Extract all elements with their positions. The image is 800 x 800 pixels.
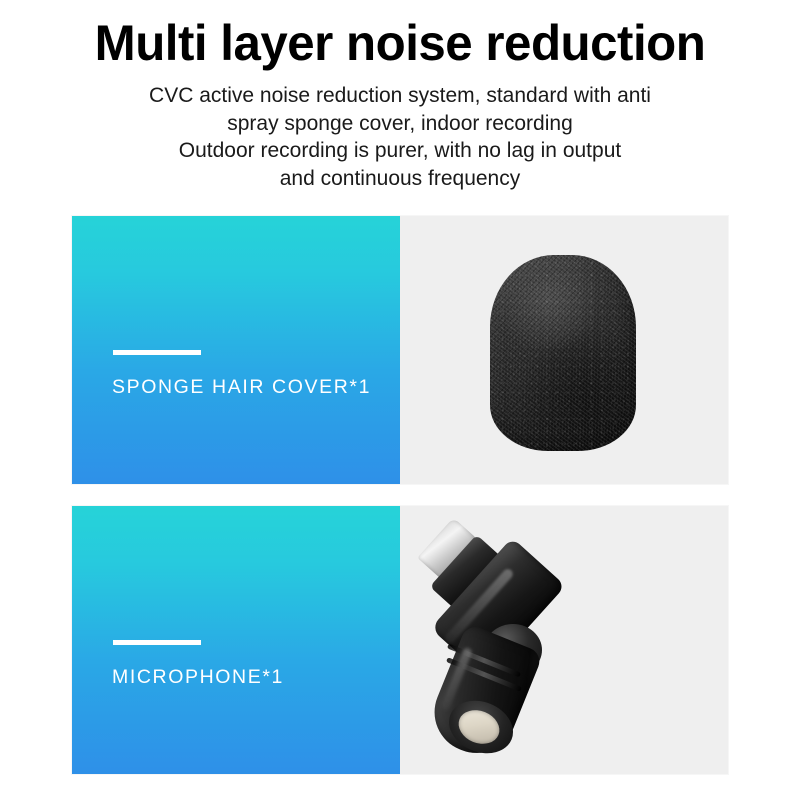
subtitle-line-4: and continuous frequency <box>0 165 800 193</box>
label-rule-divider <box>113 640 201 645</box>
product-label-text: SPONGE HAIR COVER*1 <box>112 376 371 399</box>
subtitle-line-3: Outdoor recording is purer, with no lag … <box>0 137 800 165</box>
product-label-panel: MICROPHONE*1 <box>72 506 400 774</box>
subtitle-line-1: CVC active noise reduction system, stand… <box>0 82 800 110</box>
product-photo-sponge <box>400 216 728 484</box>
product-card-list: SPONGE HAIR COVER*1 MICROPHONE*1 <box>72 216 728 774</box>
sponge-windscreen-icon <box>490 255 636 451</box>
label-rule-divider <box>113 350 201 355</box>
product-label-text: MICROPHONE*1 <box>112 666 284 689</box>
page-title: Multi layer noise reduction <box>6 14 794 72</box>
subtitle-line-2: spray sponge cover, indoor recording <box>0 110 800 138</box>
product-card-sponge-hair-cover: SPONGE HAIR COVER*1 <box>72 216 728 484</box>
product-photo-microphone <box>400 506 728 774</box>
product-label-panel: SPONGE HAIR COVER*1 <box>72 216 400 484</box>
page-subtitle: CVC active noise reduction system, stand… <box>0 82 800 192</box>
sponge-pore-layer <box>490 255 636 451</box>
product-card-microphone: MICROPHONE*1 <box>72 506 728 774</box>
lavalier-microphone-icon <box>400 506 728 774</box>
page-header: Multi layer noise reduction CVC active n… <box>0 0 800 192</box>
